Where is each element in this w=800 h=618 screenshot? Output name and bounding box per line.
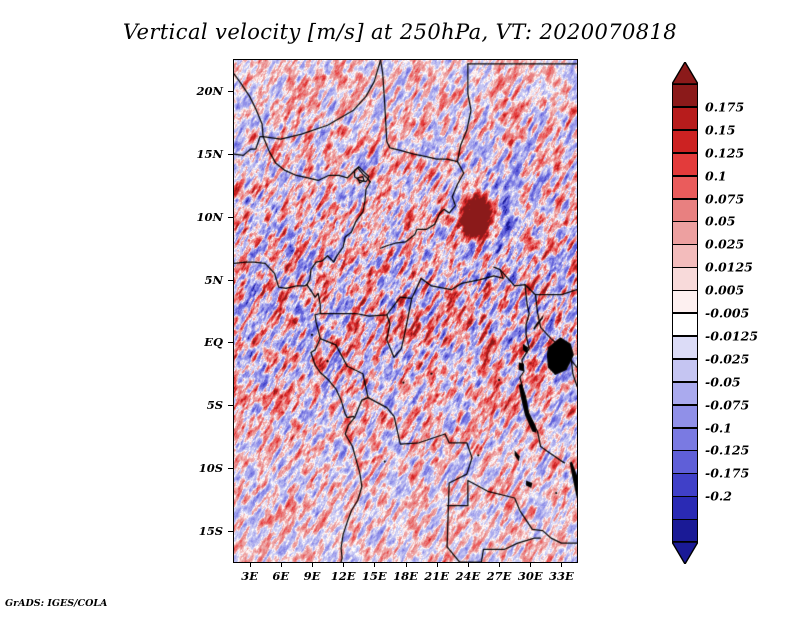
colorbar-tick-label: 0.125 <box>705 145 744 160</box>
x-axis-tick <box>374 562 375 567</box>
y-axis-tick <box>228 468 233 469</box>
x-axis-tick <box>437 562 438 567</box>
y-axis-label: 5S <box>171 398 223 412</box>
colorbar-band <box>672 107 698 130</box>
colorbar-tick-label: -0.1 <box>705 420 732 435</box>
colorbar-band <box>672 290 698 313</box>
y-axis-tick <box>228 405 233 406</box>
colorbar-band <box>672 199 698 222</box>
grads-plot-page: Vertical velocity [m/s] at 250hPa, VT: 2… <box>0 0 800 618</box>
y-axis-tick <box>228 217 233 218</box>
y-axis-label: 15N <box>171 147 223 161</box>
x-axis-tick <box>250 562 251 567</box>
x-axis-tick <box>468 562 469 567</box>
colorbar-tick-label: -0.175 <box>705 466 749 481</box>
y-axis-label: EQ <box>171 335 223 349</box>
colorbar-band <box>672 244 698 267</box>
y-axis-tick <box>228 91 233 92</box>
colorbar-tick-label: 0.1 <box>705 168 727 183</box>
y-axis-tick <box>228 531 233 532</box>
colorbar-band <box>672 336 698 359</box>
footer-attribution: GrADS: IGES/COLA <box>5 598 107 609</box>
colorbar-band <box>672 176 698 199</box>
colorbar-tick-label: -0.025 <box>705 351 749 366</box>
y-axis-tick <box>228 342 233 343</box>
colorbar-tick-label: -0.125 <box>705 443 749 458</box>
colorbar-tick-label: 0.005 <box>705 283 744 298</box>
x-axis-tick <box>281 562 282 567</box>
y-axis-tick <box>228 280 233 281</box>
colorbar-band <box>672 450 698 473</box>
colorbar-band <box>672 359 698 382</box>
y-axis-label: 10S <box>171 461 223 475</box>
country-borders-overlay <box>234 60 577 562</box>
colorbar-band <box>672 496 698 519</box>
colorbar-tick-label: -0.075 <box>705 397 749 412</box>
colorbar-tick-label: 0.025 <box>705 237 744 252</box>
y-axis-label: 15S <box>171 524 223 538</box>
colorbar-tick-label: -0.005 <box>705 306 749 321</box>
y-axis-tick <box>228 154 233 155</box>
colorbar-tick-label: -0.05 <box>705 374 741 389</box>
colorbar-min-arrow <box>672 542 698 564</box>
x-axis-tick <box>499 562 500 567</box>
colorbar-band <box>672 428 698 451</box>
x-axis-tick <box>312 562 313 567</box>
colorbar-band <box>672 405 698 428</box>
colorbar-band <box>672 267 698 290</box>
y-axis-label: 10N <box>171 210 223 224</box>
page-title: Vertical velocity [m/s] at 250hPa, VT: 2… <box>0 20 800 44</box>
y-axis-label: 20N <box>171 84 223 98</box>
x-axis-tick <box>530 562 531 567</box>
colorbar-band <box>672 313 698 336</box>
colorbar-band <box>672 153 698 176</box>
colorbar-tick-label: 0.0125 <box>705 260 753 275</box>
colorbar-band <box>672 221 698 244</box>
colorbar-band <box>672 84 698 107</box>
colorbar-band <box>672 382 698 405</box>
colorbar-tick-label: 0.15 <box>705 122 735 137</box>
colorbar-band <box>672 130 698 153</box>
colorbar-tick-label: -0.0125 <box>705 328 758 343</box>
x-axis-tick <box>343 562 344 567</box>
x-axis-tick <box>406 562 407 567</box>
x-axis-tick <box>561 562 562 567</box>
colorbar: 0.1750.150.1250.10.0750.050.0250.01250.0… <box>672 62 698 564</box>
colorbar-band <box>672 519 698 542</box>
y-axis-label: 5N <box>171 273 223 287</box>
map-plot-area <box>233 59 578 563</box>
colorbar-tick-label: 0.05 <box>705 214 735 229</box>
colorbar-tick-label: 0.175 <box>705 99 744 114</box>
colorbar-band <box>672 473 698 496</box>
x-axis-label: 33E <box>536 569 586 583</box>
colorbar-tick-label: 0.075 <box>705 191 744 206</box>
colorbar-tick-label: -0.2 <box>705 489 732 504</box>
colorbar-max-arrow <box>672 62 698 84</box>
